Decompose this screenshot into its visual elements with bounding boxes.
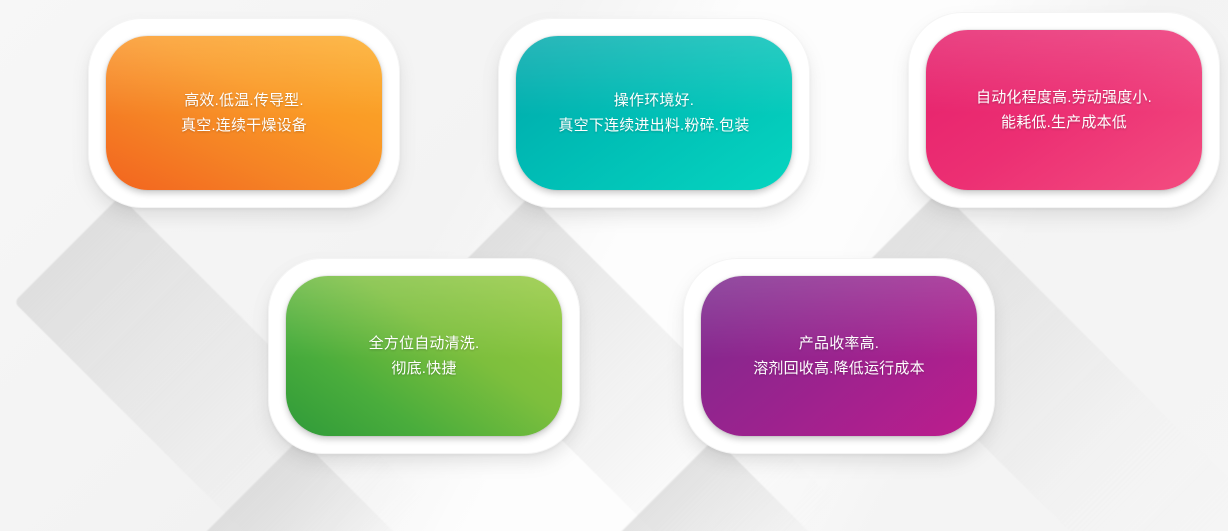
feature-card-orange[interactable]: 高效.低温.传导型. 真空.连续干燥设备: [88, 18, 400, 208]
feature-card-text: 操作环境好. 真空下连续进出料.粉碎.包装: [544, 88, 763, 138]
feature-card-panel: 自动化程度高.劳动强度小. 能耗低.生产成本低: [926, 30, 1202, 190]
feature-card-green[interactable]: 全方位自动清洗. 彻底.快捷: [268, 258, 580, 454]
feature-card-purple[interactable]: 产品收率高. 溶剂回收高.降低运行成本: [683, 258, 995, 454]
feature-card-text: 高效.低温.传导型. 真空.连续干燥设备: [167, 88, 321, 138]
feature-card-teal[interactable]: 操作环境好. 真空下连续进出料.粉碎.包装: [498, 18, 810, 208]
feature-card-text: 自动化程度高.劳动强度小. 能耗低.生产成本低: [962, 85, 1166, 135]
feature-cards-stage: 高效.低温.传导型. 真空.连续干燥设备 操作环境好. 真空下连续进出料.粉碎.…: [0, 0, 1228, 531]
feature-card-panel: 高效.低温.传导型. 真空.连续干燥设备: [106, 36, 382, 190]
feature-card-panel: 全方位自动清洗. 彻底.快捷: [286, 276, 562, 436]
feature-card-panel: 操作环境好. 真空下连续进出料.粉碎.包装: [516, 36, 792, 190]
feature-card-text: 全方位自动清洗. 彻底.快捷: [355, 331, 494, 381]
feature-card-panel: 产品收率高. 溶剂回收高.降低运行成本: [701, 276, 977, 436]
feature-card-pink[interactable]: 自动化程度高.劳动强度小. 能耗低.生产成本低: [908, 12, 1220, 208]
feature-card-text: 产品收率高. 溶剂回收高.降低运行成本: [739, 331, 939, 381]
